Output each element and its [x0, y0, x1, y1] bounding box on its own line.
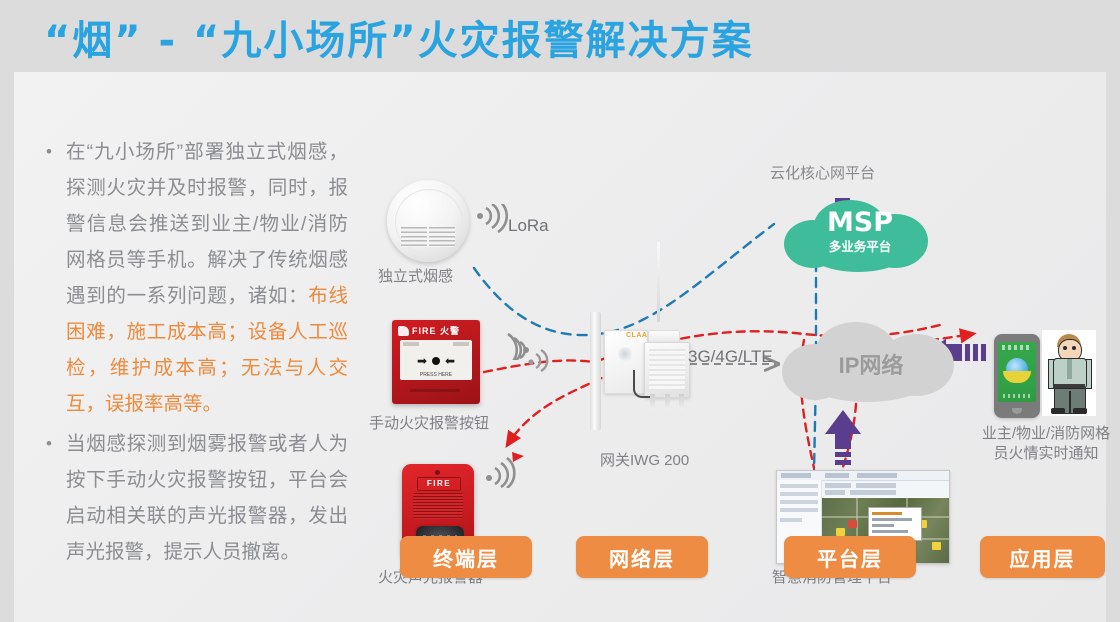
slide-root: “烟” - “九小场所”火灾报警解决方案 • 在“九小场所”部署独立式烟感，探测… [0, 0, 1120, 622]
call-point-fire-text: FIRE 火警 [412, 324, 460, 337]
alarm-signal-icon [484, 450, 528, 488]
gateway-cable [633, 370, 651, 398]
gateway-caption: 网关IWG 200 [600, 449, 689, 470]
smoke-detector-caption: 独立式烟感 [378, 265, 453, 286]
layer-button-label: 终端层 [433, 543, 499, 572]
layer-button-platform[interactable]: 平台层 [784, 536, 916, 578]
phone-home-button [1012, 408, 1022, 414]
user-avatar [1042, 330, 1096, 416]
ip-network-cloud: IP网络 [782, 322, 960, 406]
call-point-instruction: PRESS HERE [400, 372, 472, 378]
call-point-slot [410, 389, 460, 392]
msp-labels: MSP 多业务平台 [784, 208, 936, 256]
lora-label: LoRa [508, 216, 549, 236]
layer-button-label: 平台层 [817, 543, 883, 572]
manual-call-point-caption: 手动火灾报警按钮 [369, 412, 489, 433]
arrow-platform-to-ip [825, 410, 861, 465]
phone-screen-footer [1003, 394, 1031, 398]
avatar-tie [1067, 359, 1072, 379]
platform-toolbar [822, 481, 949, 497]
call-point-arrows: ➡⬅ [400, 353, 472, 369]
gateway-connectors [650, 394, 684, 410]
ip-network-label: IP网络 [782, 348, 960, 380]
layer-button-label: 应用层 [1010, 543, 1076, 572]
architecture-diagram: 独立式烟感 LoRa FIRE 火警 ➡⬅ PRESS HERE [14, 72, 1106, 622]
layer-button-application[interactable]: 应用层 [980, 536, 1105, 578]
smoke-detector-icon [387, 180, 469, 262]
avatar-shoe [1051, 408, 1065, 414]
signal-icon [526, 340, 562, 372]
gateway-device-icon: CLAA [570, 320, 690, 428]
call-point-window: ➡⬅ PRESS HERE [400, 340, 472, 380]
slide-header: “烟” - “九小场所”火灾报警解决方案 [0, 0, 1120, 72]
msp-subtitle: 多业务平台 [784, 238, 936, 256]
manual-call-point-icon: FIRE 火警 ➡⬅ PRESS HERE [392, 320, 480, 404]
fire-logo-icon [398, 326, 409, 336]
phone-screen-header [1002, 345, 1032, 350]
beacon-led [435, 470, 440, 475]
layer-button-terminal[interactable]: 终端层 [400, 536, 532, 578]
gateway-antenna [657, 242, 660, 322]
layer-button-label: 网络层 [609, 543, 675, 572]
page-title: “烟” - “九小场所”火灾报警解决方案 [44, 8, 754, 66]
cloud-core-title: 云化核心网平台 [770, 162, 875, 183]
msp-name: MSP [784, 208, 936, 238]
signal-icon [492, 326, 532, 360]
app-globe-icon [1006, 358, 1028, 380]
mobile-user-caption: 业主/物业/消防网格员火情实时通知 [976, 424, 1116, 464]
detector-grill [401, 227, 455, 247]
call-point-leds [403, 342, 469, 349]
msp-cloud: MSP 多业务平台 [784, 200, 936, 274]
beacon-grill [413, 493, 463, 519]
gateway-mast [590, 312, 601, 430]
cellular-label: 3G/4G/LTE [688, 347, 773, 367]
avatar-shoe [1073, 408, 1087, 414]
phone-screen [998, 342, 1036, 402]
avatar-eye [1072, 346, 1076, 350]
call-point-brand: FIRE 火警 [398, 324, 474, 337]
mobile-phone-icon [994, 334, 1040, 418]
content-panel: • 在“九小场所”部署独立式烟感，探测火灾并及时报警，同时，报警信息会推送到业主… [14, 72, 1106, 622]
beacon-label: FIRE [417, 477, 461, 491]
gateway-brand-label: CLAA [626, 332, 647, 339]
layer-button-network[interactable]: 网络层 [576, 536, 708, 578]
avatar-eye [1063, 346, 1067, 350]
